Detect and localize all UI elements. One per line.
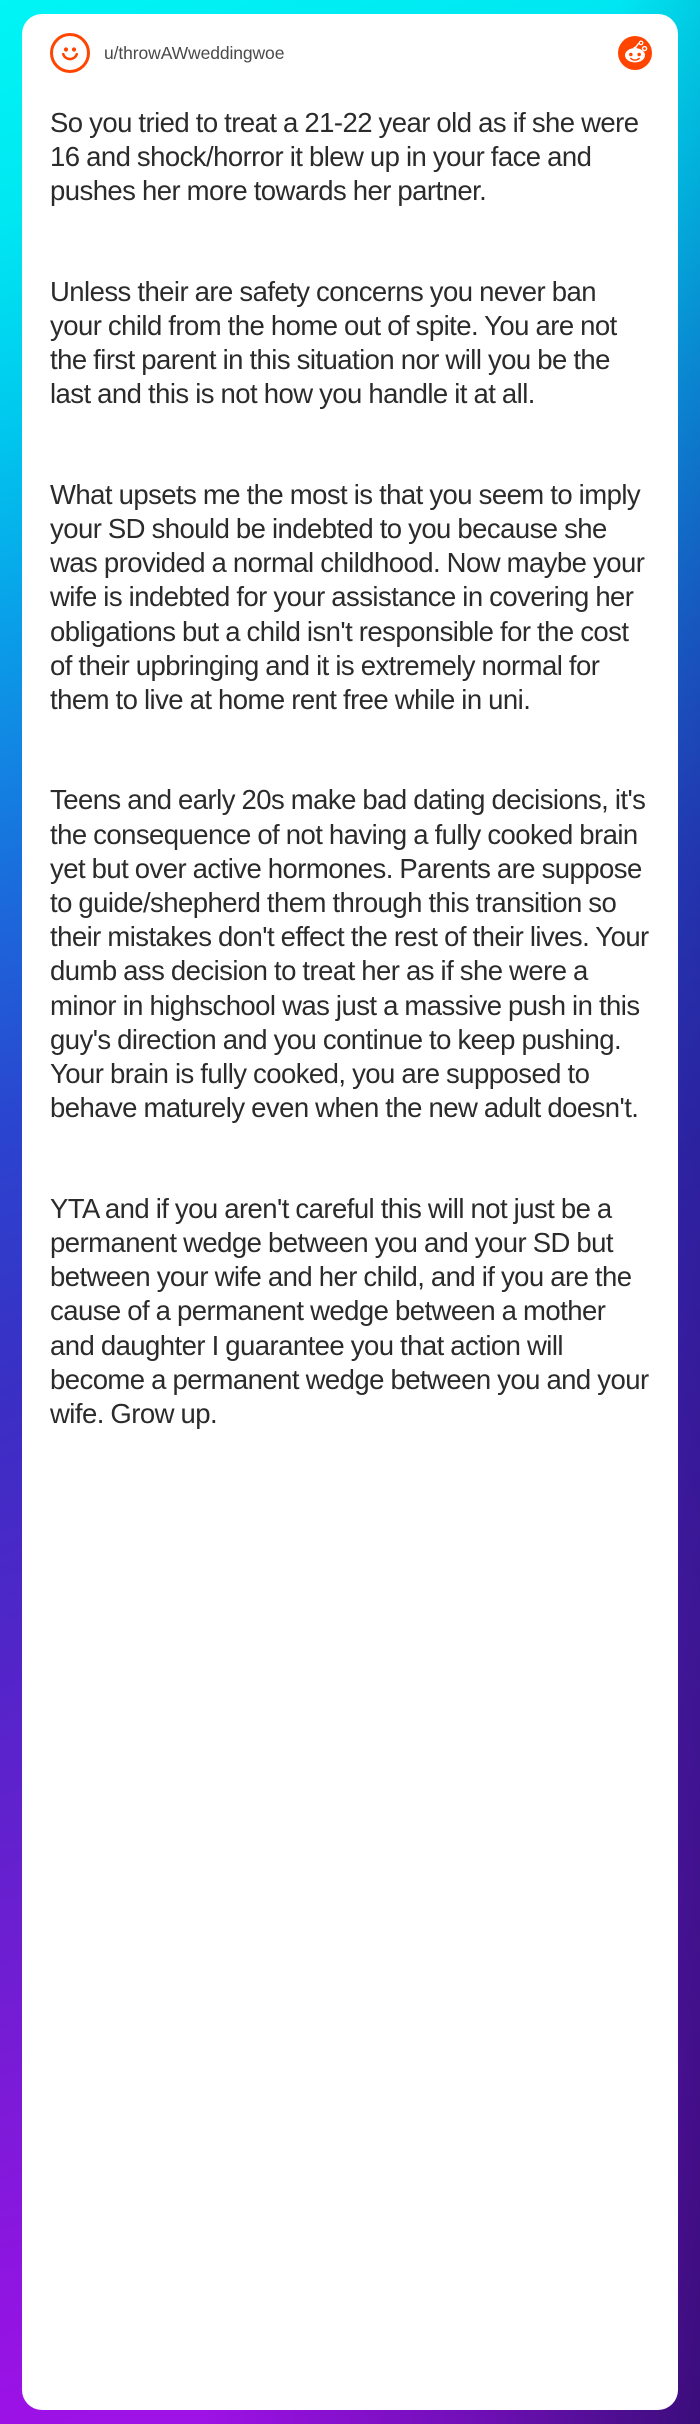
post-body: So you tried to treat a 21-22 year old a…	[22, 92, 678, 1431]
reddit-snoo-icon[interactable]	[618, 36, 652, 70]
post-paragraph: Teens and early 20s make bad dating deci…	[50, 783, 650, 1125]
post-paragraph: Unless their are safety concerns you nev…	[50, 275, 650, 412]
post-paragraph: YTA and if you aren't careful this will …	[50, 1192, 650, 1432]
username-label: u/throwAWweddingwoe	[104, 43, 284, 64]
post-paragraph: What upsets me the most is that you seem…	[50, 478, 650, 718]
smiley-face-avatar-icon[interactable]	[50, 33, 90, 73]
post-card: u/throwAWweddingwoe So you tried to trea…	[22, 14, 678, 2410]
post-paragraph: So you tried to treat a 21-22 year old a…	[50, 106, 650, 209]
post-header: u/throwAWweddingwoe	[22, 14, 678, 92]
